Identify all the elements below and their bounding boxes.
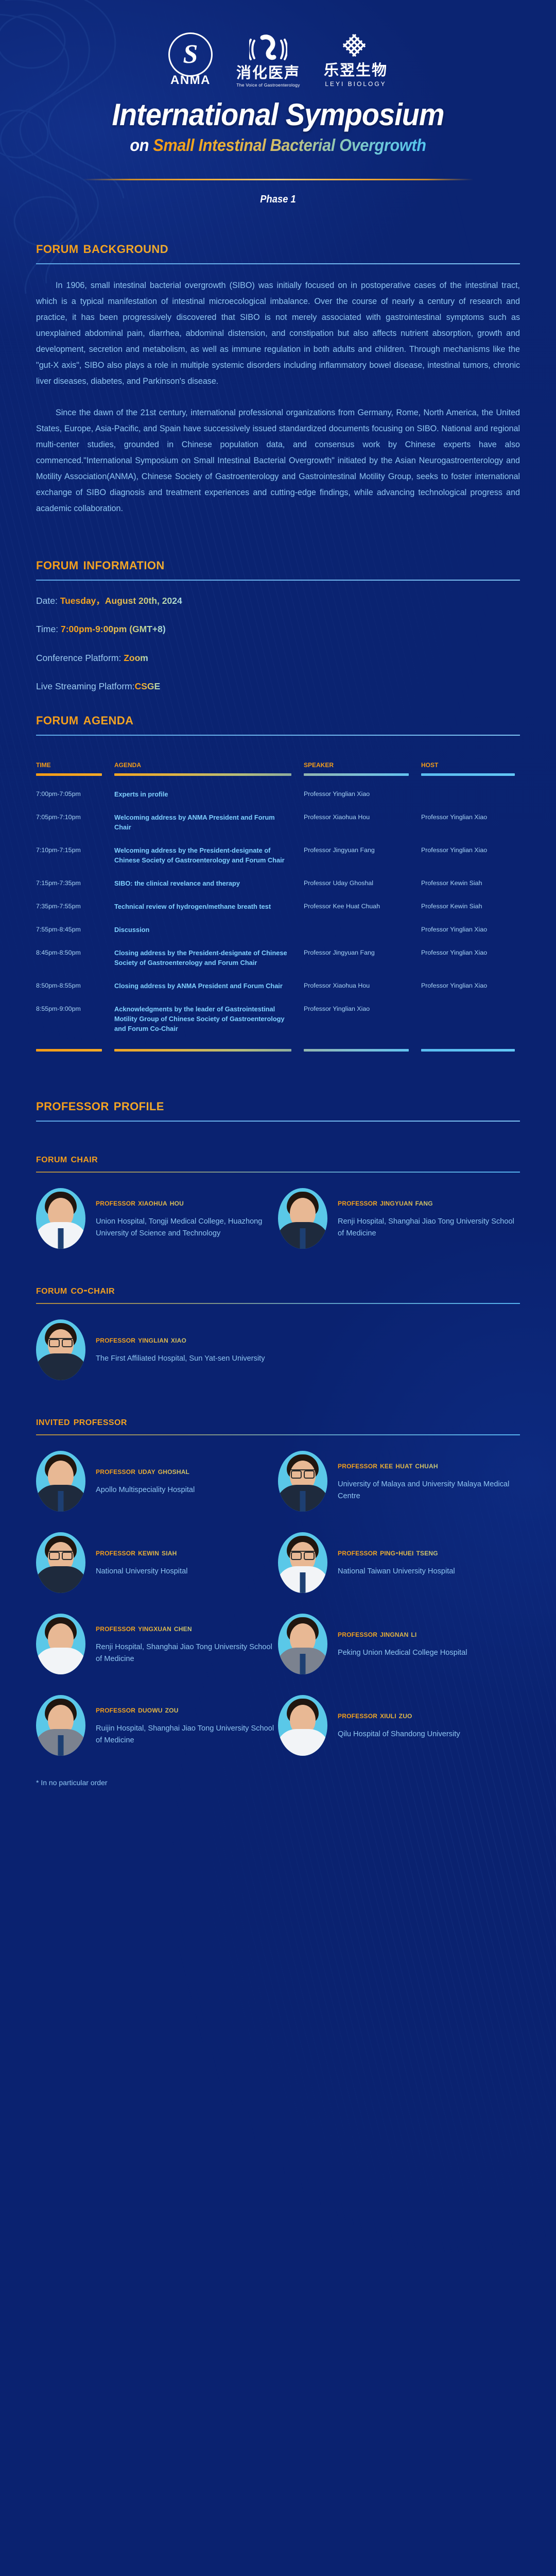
forum-chair-heading: Forum Chair	[36, 1151, 520, 1165]
logo-leyi-cn-name: 乐翌生物	[324, 63, 388, 78]
subtitle-prefix: on	[130, 135, 153, 155]
professor-name: Professor Yinglian Xiao	[96, 1335, 278, 1345]
forum-information-rule	[36, 580, 520, 581]
invited-professor-heading: Invited Professor	[36, 1414, 520, 1428]
list-item: Professor Jingyuan Fang Renji Hospital, …	[278, 1188, 520, 1249]
section-professor-profile: Professor Profile Forum Chair Professor …	[0, 1096, 556, 1787]
agenda-cell-time: 7:00pm-7:05pm	[36, 789, 114, 799]
professor-affiliation: The First Affiliated Hospital, Sun Yat-s…	[96, 1353, 278, 1365]
agenda-header-underlines	[36, 773, 520, 776]
invited-professor-grid: Professor Uday Ghoshal Apollo Multispeci…	[36, 1451, 520, 1776]
professor-name: Professor Ping-huei Tseng	[338, 1548, 520, 1558]
professor-name: Professor Uday Ghoshal	[96, 1466, 278, 1477]
info-row-conference-platform: Conference Platform: Zoom	[36, 653, 520, 663]
agenda-cell-agenda: Discussion	[114, 925, 304, 935]
professor-name: Professor Xiaohua Hou	[96, 1198, 278, 1208]
logo-leyi-biology: 乐翌生物 LEYI BIOLOGY	[324, 31, 388, 88]
table-row: 7:35pm-7:55pm Technical review of hydrog…	[36, 902, 520, 911]
agenda-bar-agenda	[114, 773, 291, 776]
professor-profile-heading: Professor Profile	[36, 1096, 520, 1114]
agenda-cell-time: 7:10pm-7:15pm	[36, 845, 114, 865]
agenda-cell-speaker	[304, 925, 421, 935]
agenda-cell-host	[421, 789, 515, 799]
agenda-cell-speaker: Professor Jingyuan Fang	[304, 845, 421, 865]
list-item: Professor Yinglian Xiao The First Affili…	[36, 1319, 278, 1380]
agenda-col-agenda: Agenda	[114, 759, 304, 770]
avatar	[278, 1695, 327, 1756]
subtitle-topic: Small Intestinal Bacterial Overgrowth	[153, 135, 426, 155]
subsection-forum-chair: Forum Chair Professor Xiaohua Hou Union …	[36, 1151, 520, 1269]
background-paragraph-2: Since the dawn of the 21st century, inte…	[36, 405, 520, 517]
info-row-date: Date: Tuesday，August 20th, 2024	[36, 596, 520, 606]
professor-affiliation: Union Hospital, Tongji Medical College, …	[96, 1216, 278, 1240]
agenda-cell-time: 8:45pm-8:50pm	[36, 948, 114, 968]
invited-professor-rule	[36, 1434, 520, 1435]
avatar	[36, 1451, 85, 1512]
subsection-forum-co-chair: Forum Co-Chair Professor Yinglian Xiao T…	[36, 1283, 520, 1401]
agenda-cell-time: 7:15pm-7:35pm	[36, 878, 114, 888]
agenda-bar-time	[36, 773, 102, 776]
leyi-mark-icon	[340, 31, 372, 63]
subsection-invited-professor: Invited Professor Professor Uday Ghoshal…	[36, 1414, 520, 1787]
background-paragraph-1: In 1906, small intestinal bacterial over…	[36, 278, 520, 389]
table-row: 7:00pm-7:05pm Experts in profile Profess…	[36, 789, 520, 799]
forum-background-copy: In 1906, small intestinal bacterial over…	[36, 278, 520, 517]
professor-affiliation: Qilu Hospital of Shandong University	[338, 1728, 520, 1740]
agenda-bar-host	[421, 773, 515, 776]
info-value-conference-platform: Zoom	[124, 653, 148, 663]
order-note: * In no particular order	[36, 1778, 520, 1787]
section-forum-background: Forum Background In 1906, small intestin…	[0, 239, 556, 517]
agenda-cell-agenda: Acknowledgments by the leader of Gastroi…	[114, 1004, 304, 1033]
table-row: 7:05pm-7:10pm Welcoming address by ANMA …	[36, 812, 520, 832]
logo-leyi-latin-name: LEYI BIOLOGY	[325, 80, 386, 88]
agenda-cell-time: 7:05pm-7:10pm	[36, 812, 114, 832]
list-item: Professor Duowu Zou Ruijin Hospital, Sha…	[36, 1695, 278, 1756]
agenda-cell-speaker: Professor Xiaohua Hou	[304, 981, 421, 991]
list-item: Professor Kee Huat Chuah University of M…	[278, 1451, 520, 1512]
list-item: Professor Jingnan Li Peking Union Medica…	[278, 1614, 520, 1674]
agenda-footbar-agenda	[114, 1049, 291, 1052]
forum-background-heading: Forum Background	[36, 239, 520, 257]
list-item: Professor Xiaohua Hou Union Hospital, To…	[36, 1188, 278, 1249]
avatar	[36, 1319, 85, 1380]
list-item: Professor Kewin Siah National University…	[36, 1532, 278, 1593]
professor-affiliation: National University Hospital	[96, 1566, 278, 1578]
forum-co-chair-rule	[36, 1303, 520, 1304]
professor-affiliation: Renji Hospital, Shanghai Jiao Tong Unive…	[338, 1216, 520, 1240]
page-title: International Symposium	[20, 97, 536, 132]
table-row: 7:55pm-8:45pm Discussion Professor Yingl…	[36, 925, 520, 935]
agenda-cell-host: Professor Kewin Siah	[421, 902, 515, 911]
logo-anma: S ANMA	[168, 39, 213, 88]
list-item: Professor Xiuli Zuo Qilu Hospital of Sha…	[278, 1695, 520, 1756]
agenda-cell-speaker: Professor Yinglian Xiao	[304, 1004, 421, 1033]
logo-voice-of-gastroenterology: 消化医声 The Voice of Gastroenterology	[236, 33, 300, 88]
agenda-cell-host: Professor Yinglian Xiao	[421, 925, 515, 935]
table-row: 7:15pm-7:35pm SIBO: the clinical revelan…	[36, 878, 520, 888]
avatar	[278, 1614, 327, 1674]
phase-label: Phase 1	[22, 194, 534, 206]
avatar	[278, 1188, 327, 1249]
professor-affiliation: Peking Union Medical College Hospital	[338, 1647, 520, 1659]
list-item: Professor Yingxuan Chen Renji Hospital, …	[36, 1614, 278, 1674]
agenda-col-host: Host	[421, 759, 515, 770]
avatar	[36, 1532, 85, 1593]
forum-background-rule	[36, 263, 520, 264]
agenda-cell-speaker: Professor Uday Ghoshal	[304, 878, 421, 888]
avatar	[36, 1188, 85, 1249]
agenda-footbar-time	[36, 1049, 102, 1052]
forum-information-heading: Forum Information	[36, 555, 520, 573]
agenda-cell-agenda: Closing address by the President-designa…	[114, 948, 304, 968]
table-row: 8:50pm-8:55pm Closing address by ANMA Pr…	[36, 981, 520, 991]
forum-co-chair-heading: Forum Co-Chair	[36, 1283, 520, 1297]
agenda-table: Time Agenda Speaker Host 7:00pm-7:05pm E…	[36, 759, 520, 1052]
agenda-cell-agenda: Welcoming address by the President-desig…	[114, 845, 304, 865]
professor-affiliation: Renji Hospital, Shanghai Jiao Tong Unive…	[96, 1641, 278, 1665]
list-item: Professor Uday Ghoshal Apollo Multispeci…	[36, 1451, 278, 1512]
agenda-cell-time: 8:55pm-9:00pm	[36, 1004, 114, 1033]
agenda-cell-time: 7:35pm-7:55pm	[36, 902, 114, 911]
avatar	[36, 1614, 85, 1674]
table-row: 8:45pm-8:50pm Closing address by the Pre…	[36, 948, 520, 968]
agenda-cell-time: 7:55pm-8:45pm	[36, 925, 114, 935]
agenda-cell-host: Professor Yinglian Xiao	[421, 845, 515, 865]
avatar	[278, 1451, 327, 1512]
agenda-cell-host: Professor Yinglian Xiao	[421, 981, 515, 991]
section-forum-information: Forum Information Date: Tuesday，August 2…	[0, 555, 556, 691]
list-item: Professor Ping-huei Tseng National Taiwa…	[278, 1532, 520, 1593]
professor-affiliation: National Taiwan University Hospital	[338, 1566, 520, 1578]
avatar	[36, 1695, 85, 1756]
agenda-cell-host: Professor Yinglian Xiao	[421, 812, 515, 832]
agenda-cell-speaker: Professor Jingyuan Fang	[304, 948, 421, 968]
table-row: 8:55pm-9:00pm Acknowledgments by the lea…	[36, 1004, 520, 1033]
professor-name: Professor Kee Huat Chuah	[338, 1461, 520, 1471]
forum-agenda-heading: Forum Agenda	[36, 710, 520, 728]
agenda-footer-underlines	[36, 1049, 520, 1052]
agenda-bar-speaker	[304, 773, 409, 776]
forum-co-chair-grid: Professor Yinglian Xiao The First Affili…	[36, 1319, 520, 1401]
agenda-cell-agenda: Technical review of hydrogen/methane bre…	[114, 902, 304, 911]
forum-agenda-rule	[36, 735, 520, 736]
logo-voice-tagline: The Voice of Gastroenterology	[236, 82, 300, 88]
forum-information-list: Date: Tuesday，August 20th, 2024 Time: 7:…	[36, 596, 520, 691]
info-row-time: Time: 7:00pm-9:00pm (GMT+8)	[36, 624, 520, 634]
info-label-conference-platform: Conference Platform:	[36, 653, 124, 663]
info-label-live-platform: Live Streaming Platform:	[36, 681, 135, 691]
agenda-footbar-host	[421, 1049, 515, 1052]
sponsor-logos: S ANMA 消化医声 The Voice of Gastroenterolog…	[0, 0, 556, 88]
agenda-cell-host: Professor Yinglian Xiao	[421, 948, 515, 968]
phase-divider	[82, 179, 474, 180]
agenda-cell-agenda: Experts in profile	[114, 789, 304, 799]
professor-name: Professor Yingxuan Chen	[96, 1623, 278, 1634]
agenda-cell-host	[421, 1004, 515, 1033]
info-label-date: Date:	[36, 596, 60, 606]
info-value-time: 7:00pm-9:00pm (GMT+8)	[61, 624, 166, 634]
professor-profile-rule	[36, 1121, 520, 1122]
agenda-col-time: Time	[36, 759, 114, 770]
logo-voice-cn-name: 消化医声	[236, 65, 300, 81]
agenda-cell-agenda: Welcoming address by ANMA President and …	[114, 812, 304, 832]
page-subtitle: on Small Intestinal Bacterial Overgrowth	[20, 135, 536, 155]
professor-name: Professor Xiuli Zuo	[338, 1710, 520, 1721]
agenda-cell-speaker: Professor Yinglian Xiao	[304, 789, 421, 799]
info-row-live-platform: Live Streaming Platform:CSGE	[36, 682, 520, 691]
professor-affiliation: University of Malaya and University Mala…	[338, 1479, 520, 1502]
professor-name: Professor Jingyuan Fang	[338, 1198, 520, 1208]
professor-name: Professor Jingnan Li	[338, 1629, 520, 1639]
forum-chair-grid: Professor Xiaohua Hou Union Hospital, To…	[36, 1188, 520, 1269]
agenda-cell-speaker: Professor Kee Huat Chuah	[304, 902, 421, 911]
forum-chair-rule	[36, 1172, 520, 1173]
professor-name: Professor Kewin Siah	[96, 1548, 278, 1558]
agenda-cell-agenda: Closing address by ANMA President and Fo…	[114, 981, 304, 991]
agenda-footbar-speaker	[304, 1049, 409, 1052]
professor-affiliation: Apollo Multispeciality Hospital	[96, 1484, 278, 1496]
info-value-date: Tuesday，August 20th, 2024	[60, 596, 182, 606]
professor-affiliation: Ruijin Hospital, Shanghai Jiao Tong Univ…	[96, 1723, 278, 1747]
anma-circle-icon: S	[168, 32, 213, 77]
agenda-col-speaker: Speaker	[304, 759, 421, 770]
table-row: 7:10pm-7:15pm Welcoming address by the P…	[36, 845, 520, 865]
agenda-cell-host: Professor Kewin Siah	[421, 878, 515, 888]
info-value-live-platform: CSGE	[135, 681, 161, 691]
stomach-icon	[249, 35, 287, 64]
professor-name: Professor Duowu Zou	[96, 1705, 278, 1715]
avatar	[278, 1532, 327, 1593]
agenda-cell-speaker: Professor Xiaohua Hou	[304, 812, 421, 832]
section-forum-agenda: Forum Agenda Time Agenda Speaker Host 7:…	[0, 710, 556, 1052]
agenda-cell-agenda: SIBO: the clinical revelance and therapy	[114, 878, 304, 888]
agenda-header-row: Time Agenda Speaker Host	[36, 759, 520, 770]
info-label-time: Time:	[36, 624, 61, 634]
agenda-cell-time: 8:50pm-8:55pm	[36, 981, 114, 991]
